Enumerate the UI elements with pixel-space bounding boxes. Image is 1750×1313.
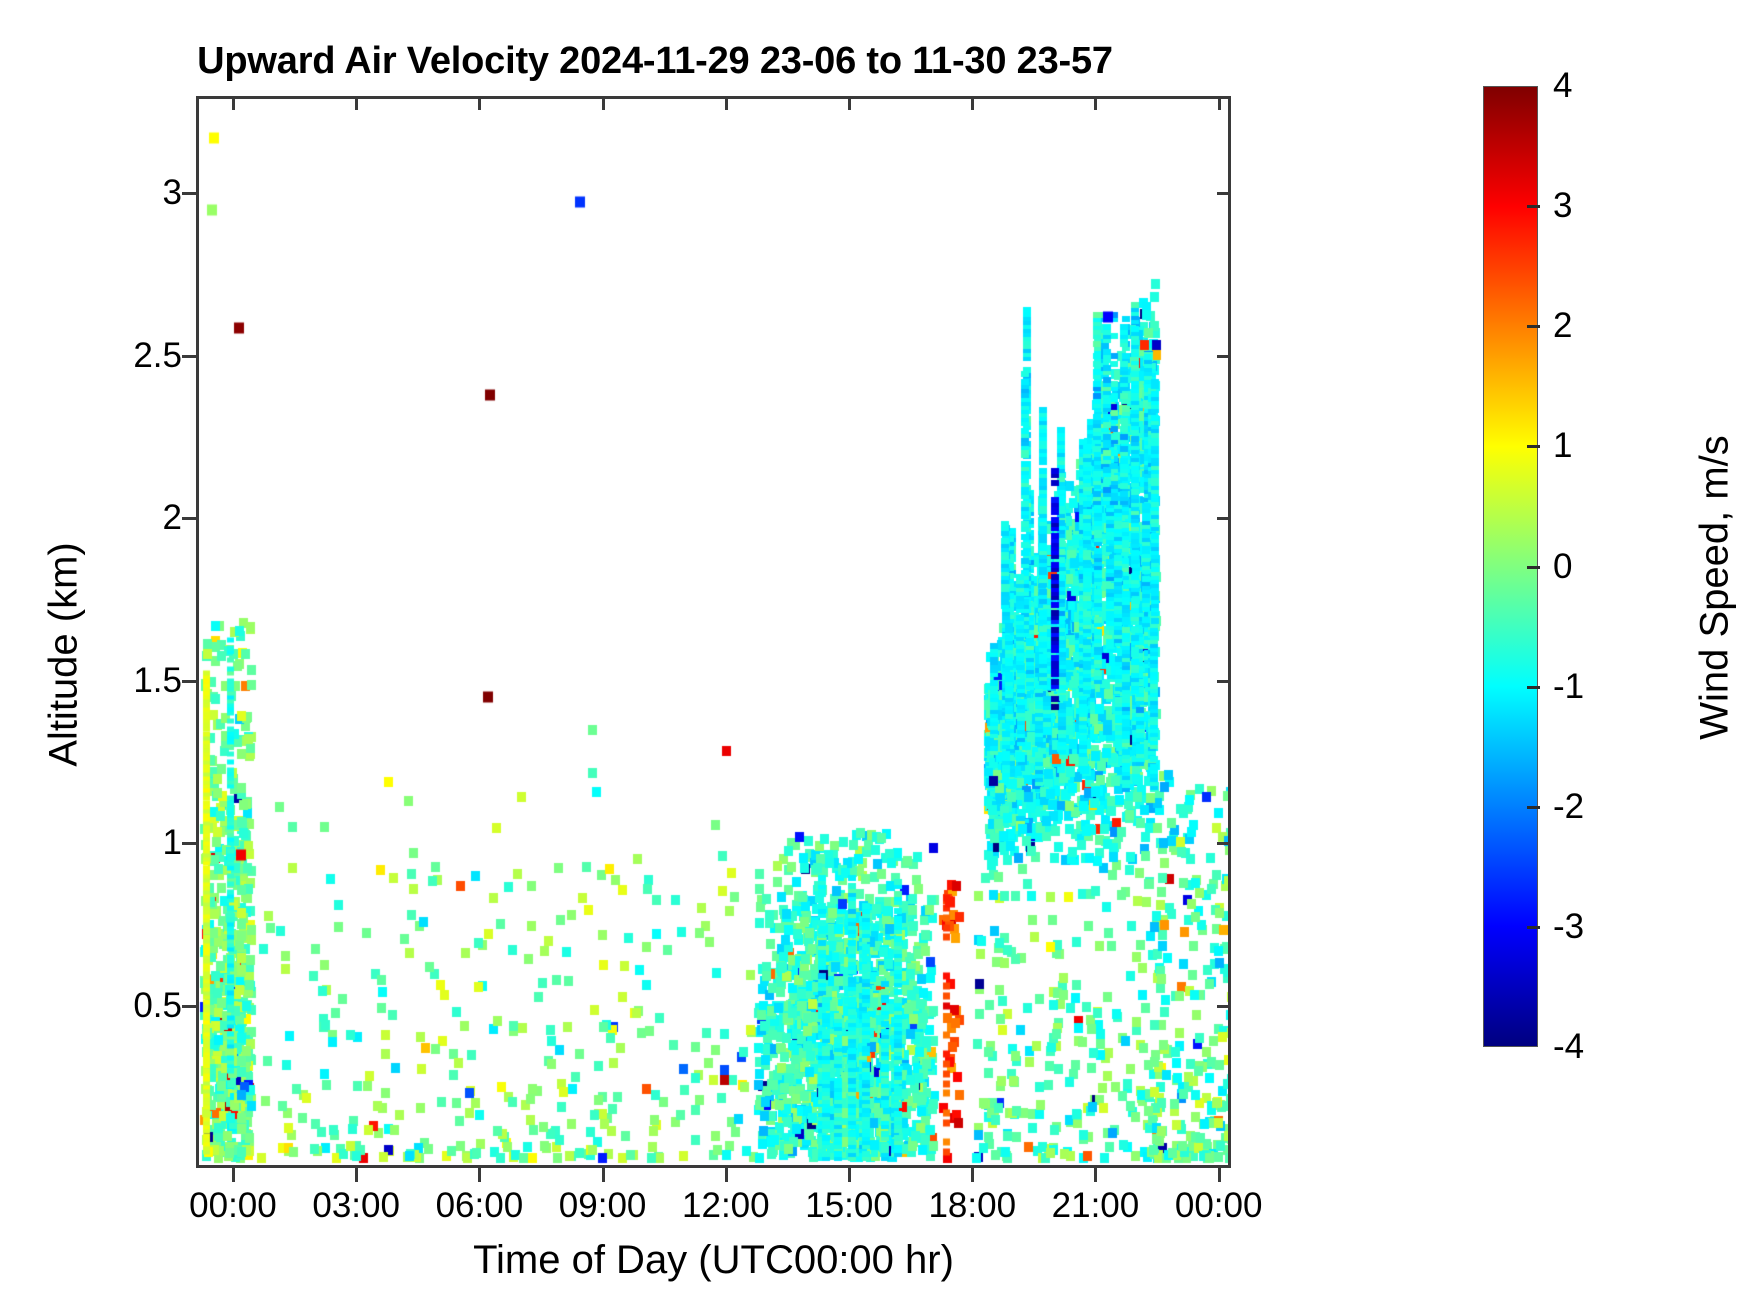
y-tick-right [1217,192,1231,195]
x-tick-label: 03:00 [312,1186,400,1226]
y-tick [182,355,196,358]
x-tick-top [971,96,974,110]
colorbar-tick-label: 1 [1553,426,1572,466]
colorbar-tick-label: 0 [1553,547,1572,587]
y-tick-right [1217,680,1231,683]
x-tick [602,1168,605,1182]
colorbar-tick-label: -1 [1553,667,1584,707]
y-tick-right [1217,517,1231,520]
x-tick [478,1168,481,1182]
y-tick-label: 1 [163,823,182,863]
chart-title: Upward Air Velocity 2024-11-29 23-06 to … [0,40,1310,83]
x-tick [232,1168,235,1182]
x-tick [355,1168,358,1182]
colorbar-tick-label: -2 [1553,787,1584,827]
y-tick [182,680,196,683]
x-tick-label: 06:00 [436,1186,524,1226]
y-tick-right [1217,842,1231,845]
y-tick-label: 1.5 [133,661,182,701]
y-tick [182,1005,196,1008]
y-tick-label: 0.5 [133,986,182,1026]
x-tick-top [1094,96,1097,110]
x-tick-label: 12:00 [682,1186,770,1226]
x-tick-top [355,96,358,110]
x-tick-top [1218,96,1221,110]
y-tick [182,517,196,520]
colorbar-tick-label: -3 [1553,907,1584,947]
y-axis-title: Altitude (km) [42,305,87,1005]
colorbar-tick-label: 3 [1553,186,1572,226]
x-tick-top [602,96,605,110]
colorbar-tick-label: 2 [1553,306,1572,346]
plot-area [196,96,1231,1168]
y-tick-label: 2.5 [133,336,182,376]
x-tick-label: 09:00 [559,1186,647,1226]
x-tick-label: 00:00 [1175,1186,1263,1226]
y-tick-right [1217,1005,1231,1008]
y-tick-right [1217,355,1231,358]
colorbar-tick-label: -4 [1553,1027,1584,1067]
colorbar-tick [1527,445,1540,448]
chart-page: Upward Air Velocity 2024-11-29 23-06 to … [0,0,1750,1313]
x-tick-top [725,96,728,110]
x-tick [725,1168,728,1182]
x-tick-label: 18:00 [928,1186,1016,1226]
x-tick-top [232,96,235,110]
x-tick-top [478,96,481,110]
scatter-canvas [199,99,1228,1165]
colorbar-tick [1527,926,1540,929]
colorbar-tick [1527,325,1540,328]
colorbar-tick [1527,806,1540,809]
x-tick [971,1168,974,1182]
x-tick-label: 21:00 [1052,1186,1140,1226]
x-tick [848,1168,851,1182]
x-tick-top [848,96,851,110]
y-tick-label: 2 [163,498,182,538]
colorbar-tick-label: 4 [1553,66,1572,106]
x-tick [1094,1168,1097,1182]
y-tick-label: 3 [163,173,182,213]
colorbar-tick [1527,566,1540,569]
x-tick [1218,1168,1221,1182]
x-axis-title: Time of Day (UTC00:00 hr) [196,1238,1231,1283]
y-tick [182,192,196,195]
y-tick [182,842,196,845]
colorbar-tick [1527,205,1540,208]
colorbar-tick [1527,686,1540,689]
x-tick-label: 15:00 [805,1186,893,1226]
colorbar-title: Wind Speed, m/s [1693,208,1738,968]
x-tick-label: 00:00 [189,1186,277,1226]
